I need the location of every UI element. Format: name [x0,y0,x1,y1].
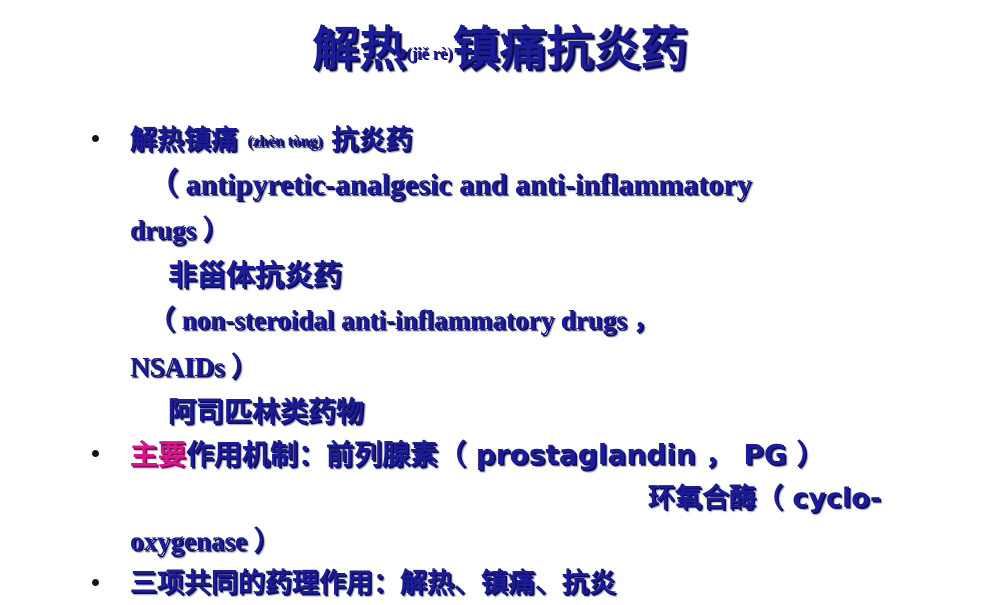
bullet-dot-icon [92,579,99,586]
slide-canvas: 解热(jiě rè)镇痛抗炎药 解热镇痛 (zhèn tòng) 抗炎药 （ a… [0,0,1000,600]
line-7-aspirin-chinese: 阿司匹林类药物 [0,391,1000,433]
line-3-english-wrap: drugs ） [0,206,1000,254]
bullet-item-1: 解热镇痛 (zhèn tòng) 抗炎药 [0,118,1000,164]
line-10-english-wrap: oxygenase ） [0,520,1000,562]
bullet-dot-icon [92,450,99,457]
line-8-highlight: 主要 [130,438,186,471]
line-4-nsaid-chinese: 非甾体抗炎药 [0,254,1000,296]
line-1-text-a: 解热镇痛 [130,125,247,156]
line-8-text: 作用机制：前列腺素（ prostaglandin ， PG ） [186,438,825,471]
line-9-cyclooxygenase: 环氧合酶（ cyclo- [0,478,1000,520]
line-5-english-open: （ non-steroidal anti-inflammatory drugs … [0,296,1000,344]
title-part-1: 解热 [312,22,406,77]
title-pinyin: (jiě rè) [406,44,452,63]
title-part-2: 镇痛抗炎药 [453,22,688,77]
line-1-text-b: 抗炎药 [322,125,412,156]
page-title: 解热(jiě rè)镇痛抗炎药 [0,26,1000,74]
bullet-item-2: 主要作用机制：前列腺素（ prostaglandin ， PG ） [0,433,1000,478]
slide-body: 解热镇痛 (zhèn tòng) 抗炎药 （ antipyretic-analg… [0,118,1000,605]
line-11-text: 三项共同的药理作用：解热、镇痛、抗炎 [130,568,616,599]
bullet-item-3: 三项共同的药理作用：解热、镇痛、抗炎 [0,562,1000,605]
line-6-english-wrap: NSAIDs ） [0,344,1000,391]
line-2-english-open: （ antipyretic-analgesic and anti-inflamm… [0,164,1000,206]
line-1-pinyin: (zhèn tòng) [247,133,322,150]
bullet-dot-icon [92,135,99,142]
